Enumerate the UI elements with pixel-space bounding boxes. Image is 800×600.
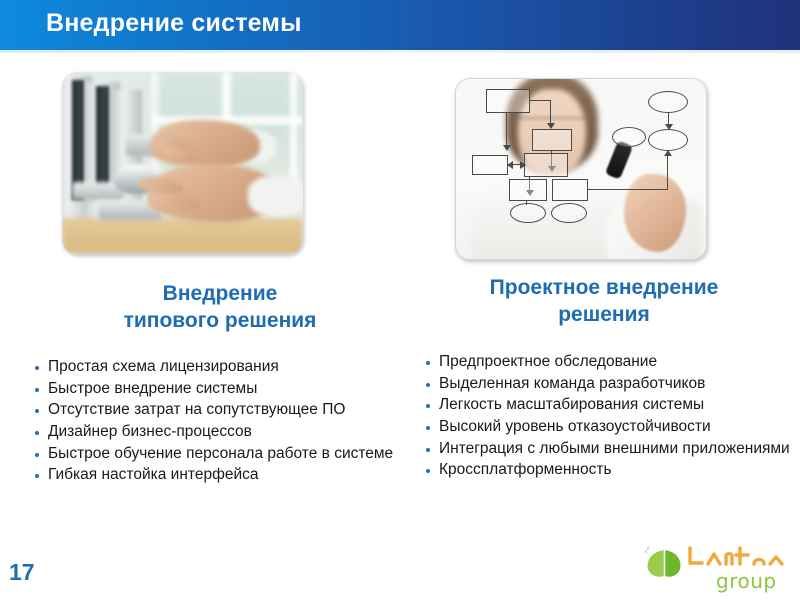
list-item: Гибкая настойка интерфейса (33, 465, 411, 486)
right-heading-line-2: решения (420, 302, 788, 329)
list-item: Кроссплатформенность (424, 460, 792, 481)
left-heading-line-1: Внедрение (30, 281, 410, 308)
slide-header-bar: Внедрение системы (0, 0, 800, 50)
flowchart-oval (551, 203, 587, 223)
left-heading-line-2: типового решения (30, 308, 410, 335)
monitor-screen (96, 86, 109, 194)
flowchart-oval (648, 129, 688, 151)
list-item: Отсутствие затрат на сопутствующее ПО (33, 400, 411, 421)
flowchart-arrow (507, 161, 513, 169)
flowchart-box (472, 155, 508, 175)
list-item: Интеграция с любыми внешними приложениям… (424, 439, 792, 460)
window-mullion-vertical (290, 72, 297, 192)
list-item: Дизайнер бизнес-процессов (33, 422, 411, 443)
list-item: Высокий уровень отказоустойчивости (424, 417, 792, 438)
flowchart-connector (588, 189, 668, 190)
flowchart-box (509, 179, 547, 201)
list-item: Быстрое обучение персонала работе в сист… (33, 444, 411, 465)
flowchart-connector (506, 113, 507, 147)
flowchart-arrow (520, 161, 526, 169)
logo-subtext: group (716, 569, 777, 593)
lanta-group-logo: group (640, 543, 792, 595)
list-item: Простая схема лицензирования (33, 357, 411, 378)
leaf-icon (644, 545, 684, 581)
desk-surface (62, 218, 303, 254)
flowchart-oval (648, 91, 688, 113)
flowchart-box (486, 89, 530, 113)
page-title: Внедрение системы (46, 9, 302, 38)
list-item: Легкость масштабирования системы (424, 395, 792, 416)
flowchart-box (552, 179, 588, 201)
flowchart-arrow (503, 145, 511, 151)
left-column-bullet-list: Простая схема лицензирования Быстрое вне… (33, 357, 411, 487)
flowchart-connector (667, 155, 668, 190)
right-column-heading: Проектное внедрение решения (420, 275, 788, 329)
image-hands-typing (62, 72, 303, 254)
flowchart-connector (526, 201, 527, 205)
flowchart-box (532, 129, 572, 151)
image-woman-drawing-flowchart (455, 78, 707, 260)
flowchart-box (524, 153, 568, 177)
right-column-bullet-list: Предпроектное обследование Выделенная ко… (424, 352, 792, 482)
flowchart-oval (612, 127, 646, 147)
list-item: Предпроектное обследование (424, 352, 792, 373)
flowchart-oval (510, 203, 546, 223)
flowchart-arrow (664, 150, 672, 156)
list-item: Быстрое внедрение системы (33, 379, 411, 400)
page-number: 17 (9, 559, 35, 586)
right-heading-line-1: Проектное внедрение (420, 275, 788, 302)
shirt-cuff (248, 176, 303, 216)
flowchart-connector (529, 100, 551, 101)
list-item: Выделенная команда разработчиков (424, 374, 792, 395)
left-column-heading: Внедрение типового решения (30, 281, 410, 335)
header-underline-divider (0, 50, 800, 53)
hand-holding-marker (624, 174, 686, 252)
